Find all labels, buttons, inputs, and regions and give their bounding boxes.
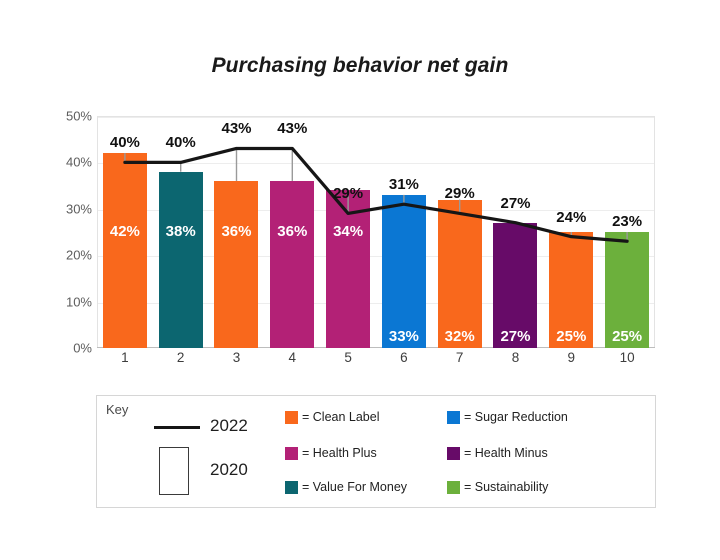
x-axis-tick-label: 3 xyxy=(233,350,241,365)
legend-category-label: = Clean Label xyxy=(302,410,380,424)
chart-title: Purchasing behavior net gain xyxy=(0,54,720,78)
legend-color-swatch-icon xyxy=(285,447,298,460)
bar-slot: 33% xyxy=(376,116,432,348)
x-axis-tick-label: 6 xyxy=(400,350,408,365)
x-axis-tick-label: 5 xyxy=(344,350,352,365)
bar[interactable] xyxy=(438,200,482,348)
bar-slot: 38% xyxy=(153,116,209,348)
legend-key-label: Key xyxy=(106,402,128,417)
bar-value-label: 38% xyxy=(166,223,196,240)
legend-rect-label: 2020 xyxy=(210,460,248,480)
legend-category-item[interactable]: = Clean Label xyxy=(285,410,380,424)
bar-value-label: 32% xyxy=(445,328,475,345)
bar-value-label: 42% xyxy=(110,223,140,240)
legend-line-label: 2022 xyxy=(210,416,248,436)
legend-category-label: = Sustainability xyxy=(464,480,548,494)
bar-series-2020: 42%38%36%36%34%33%32%27%25%25% xyxy=(97,116,655,348)
x-axis-tick-label: 9 xyxy=(568,350,576,365)
legend-color-swatch-icon xyxy=(285,481,298,494)
x-axis-tick-label: 7 xyxy=(456,350,464,365)
legend-category-item[interactable]: = Sustainability xyxy=(447,480,548,494)
y-axis: 0%10%20%30%40%50% xyxy=(47,116,92,348)
bar-slot: 25% xyxy=(543,116,599,348)
x-axis-tick-label: 10 xyxy=(620,350,635,365)
bar-slot: 42% xyxy=(97,116,153,348)
legend-category-item[interactable]: = Value For Money xyxy=(285,480,407,494)
bar[interactable] xyxy=(326,190,370,348)
legend-category-label: = Sugar Reduction xyxy=(464,410,568,424)
legend-color-swatch-icon xyxy=(285,411,298,424)
x-axis-tick-label: 1 xyxy=(121,350,129,365)
bar[interactable] xyxy=(382,195,426,348)
x-axis-tick-label: 8 xyxy=(512,350,520,365)
legend-category-item[interactable]: = Sugar Reduction xyxy=(447,410,568,424)
bar-value-label: 33% xyxy=(389,328,419,345)
bar[interactable] xyxy=(103,153,147,348)
legend-color-swatch-icon xyxy=(447,481,460,494)
legend-rect-swatch-icon xyxy=(159,447,189,495)
y-axis-tick-label: 50% xyxy=(52,109,92,124)
chart-canvas: Purchasing behavior net gain 0%10%20%30%… xyxy=(0,0,720,560)
bar-slot: 27% xyxy=(488,116,544,348)
y-axis-tick-label: 30% xyxy=(52,201,92,216)
legend-category-label: = Health Minus xyxy=(464,446,548,460)
legend: Key 2022 2020 = Clean Label= Sugar Reduc… xyxy=(96,395,656,508)
y-axis-tick-label: 20% xyxy=(52,248,92,263)
legend-category-label: = Value For Money xyxy=(302,480,407,494)
bar-slot: 25% xyxy=(599,116,655,348)
y-axis-tick-label: 0% xyxy=(52,341,92,356)
bar-value-label: 34% xyxy=(333,223,363,240)
bar[interactable] xyxy=(214,181,258,348)
bar-slot: 36% xyxy=(209,116,265,348)
y-axis-tick-label: 10% xyxy=(52,294,92,309)
bar-value-label: 36% xyxy=(221,223,251,240)
legend-line-swatch-icon xyxy=(154,426,200,429)
bar-value-label: 25% xyxy=(556,328,586,345)
x-axis: 12345678910 xyxy=(97,350,655,372)
bar-slot: 34% xyxy=(320,116,376,348)
legend-color-swatch-icon xyxy=(447,411,460,424)
x-axis-tick-label: 4 xyxy=(289,350,297,365)
bar-value-label: 36% xyxy=(277,223,307,240)
bar-value-label: 27% xyxy=(500,328,530,345)
bar-value-label: 25% xyxy=(612,328,642,345)
bar-slot: 32% xyxy=(432,116,488,348)
bar-slot: 36% xyxy=(264,116,320,348)
legend-category-item[interactable]: = Health Minus xyxy=(447,446,548,460)
legend-color-swatch-icon xyxy=(447,447,460,460)
legend-category-item[interactable]: = Health Plus xyxy=(285,446,377,460)
y-axis-tick-label: 40% xyxy=(52,155,92,170)
legend-category-label: = Health Plus xyxy=(302,446,377,460)
bar[interactable] xyxy=(159,172,203,348)
bar[interactable] xyxy=(270,181,314,348)
x-axis-tick-label: 2 xyxy=(177,350,185,365)
